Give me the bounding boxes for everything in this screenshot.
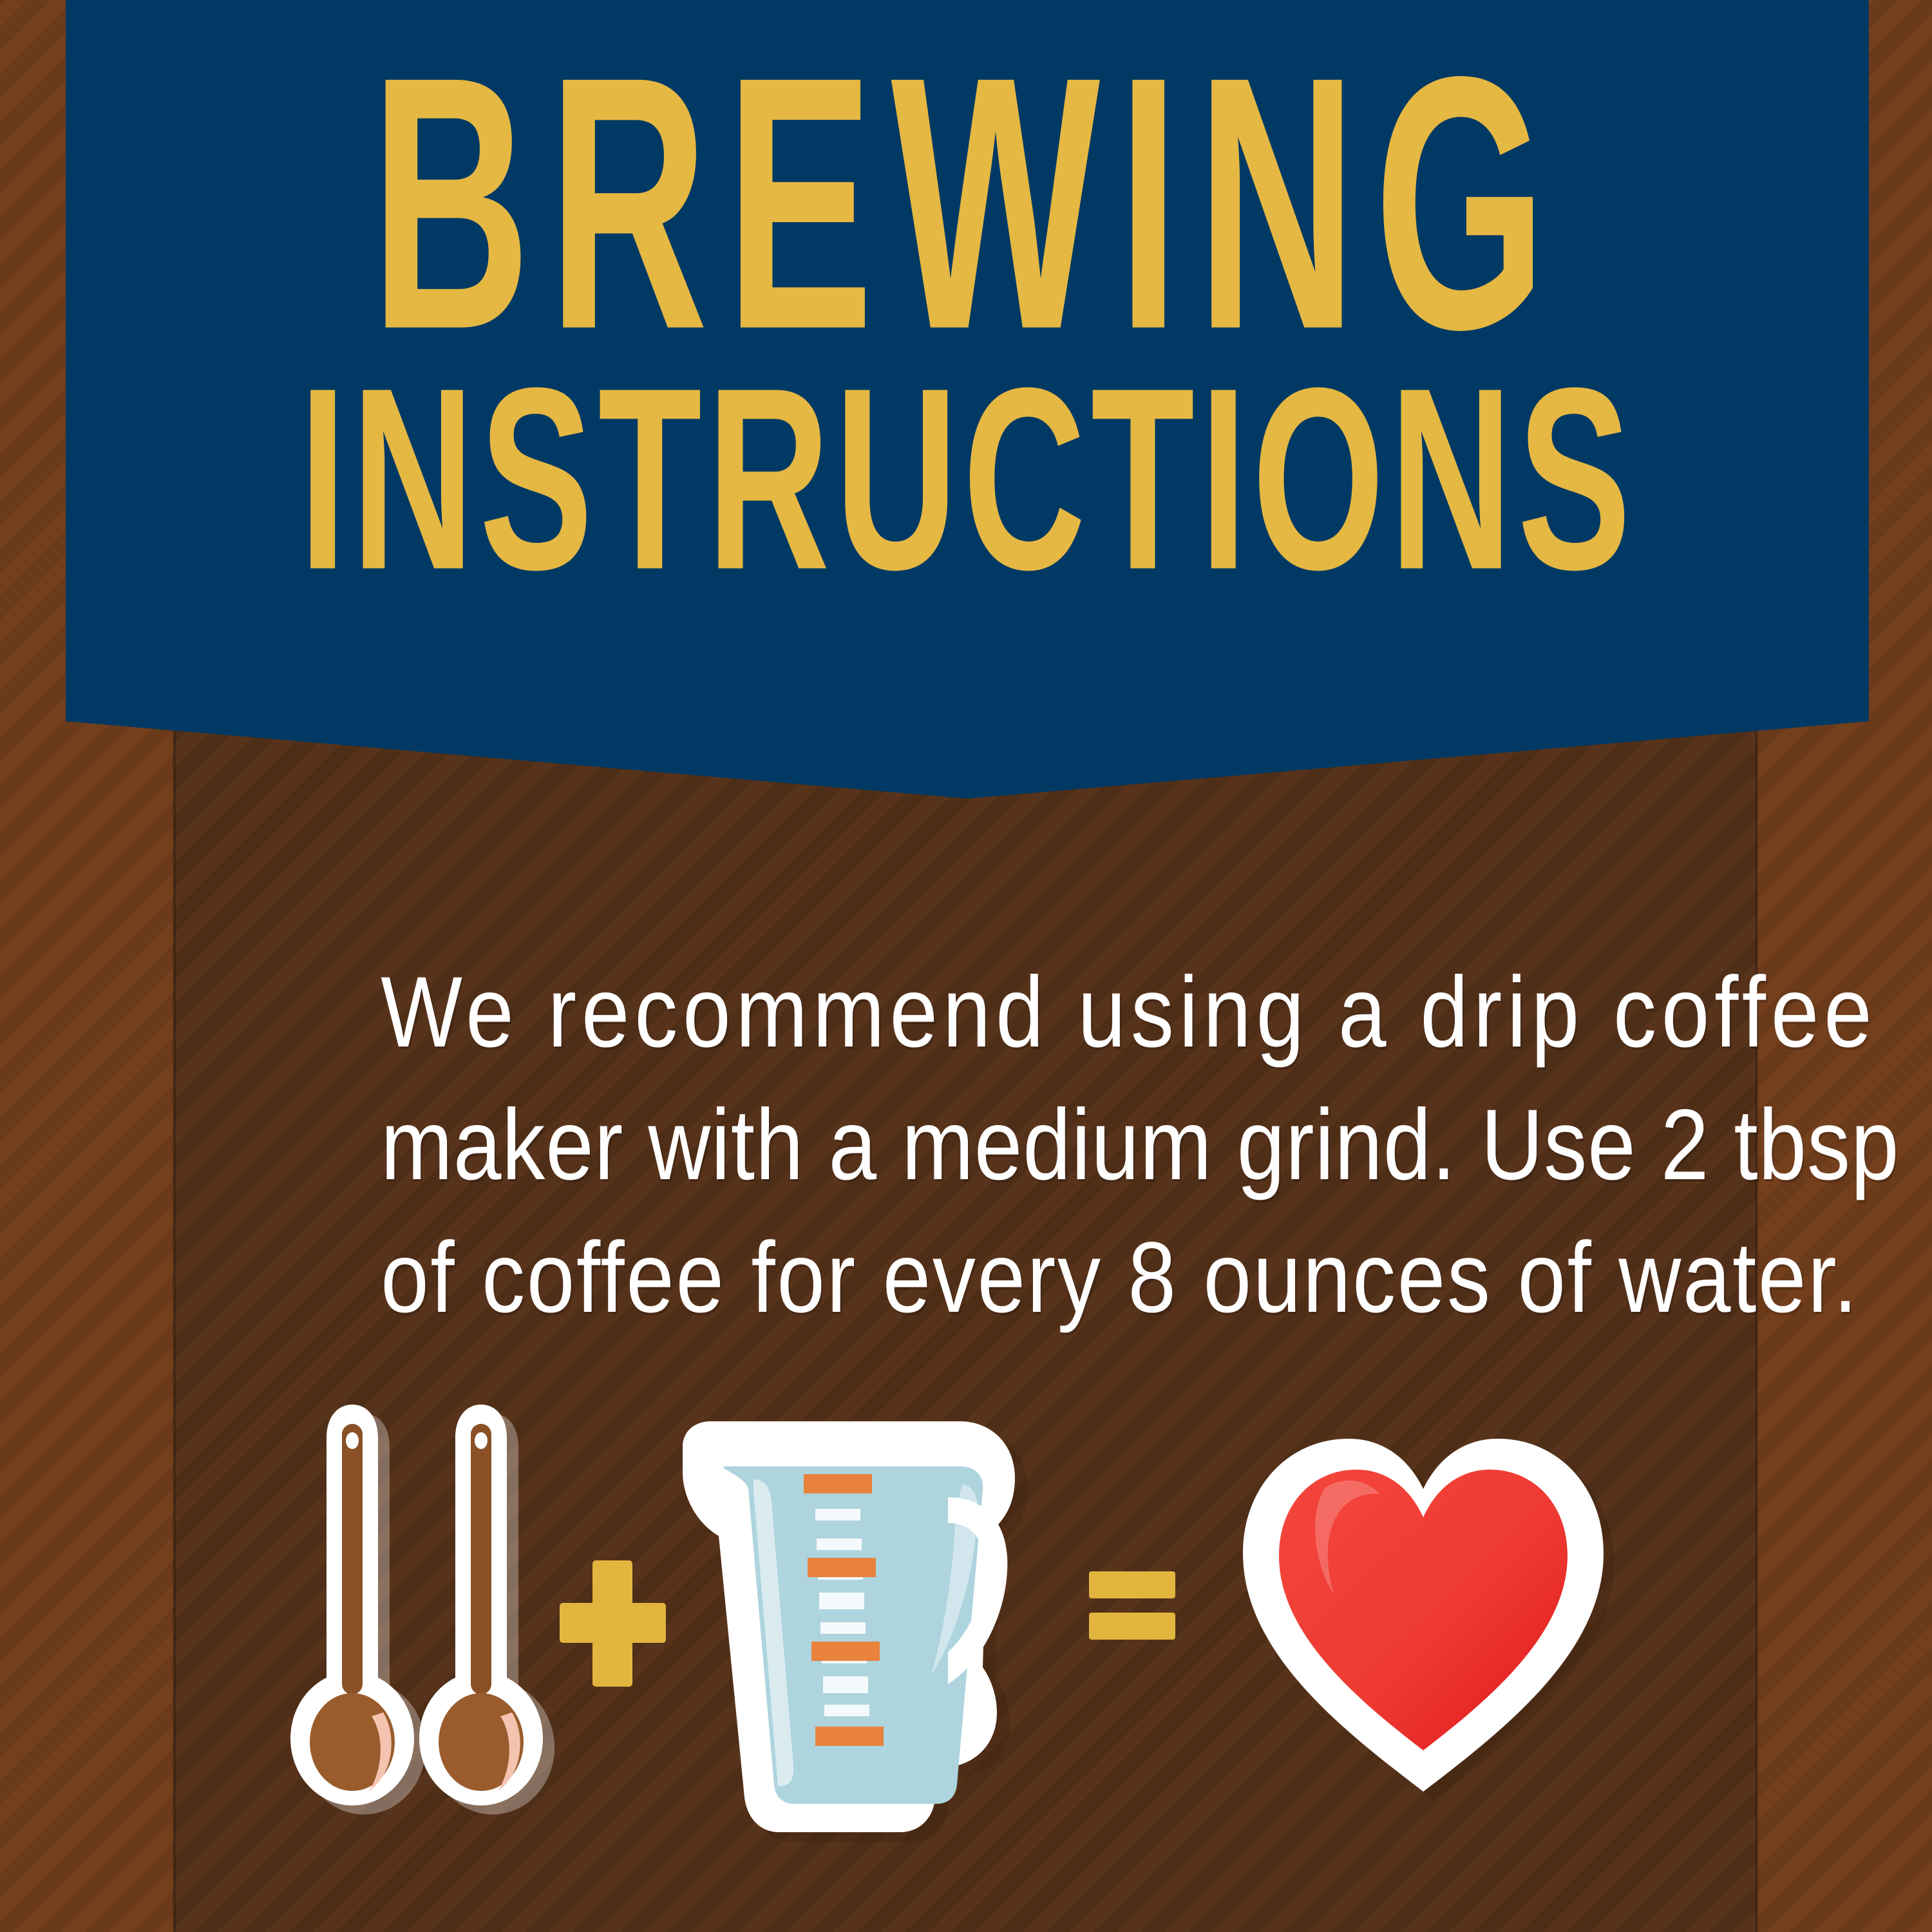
spoon-right xyxy=(419,1405,543,1806)
instructions-line-2: maker with a medium grind. Use 2 tbsp xyxy=(381,1079,1577,1212)
title-line-instructions: INSTRUCTIONS xyxy=(299,359,1636,598)
spoon-left xyxy=(290,1405,414,1806)
instructions-line-3: of coffee for every 8 ounces of water. xyxy=(381,1212,1577,1345)
title-banner: BREWING INSTRUCTIONS xyxy=(66,0,1869,799)
equals-operator-icon xyxy=(1085,1565,1214,1668)
measuring-cup-icon xyxy=(657,1407,1056,1858)
brewing-instructions-poster: BREWING INSTRUCTIONS We recommend using … xyxy=(0,0,1932,1932)
title-line-brewing: BREWING xyxy=(371,39,1564,370)
heart-icon xyxy=(1217,1417,1629,1816)
instructions-paragraph: We recommend using a drip coffee maker w… xyxy=(381,947,1577,1345)
brewing-equation-row xyxy=(0,1401,1932,1890)
instructions-line-1: We recommend using a drip coffee xyxy=(381,947,1577,1079)
